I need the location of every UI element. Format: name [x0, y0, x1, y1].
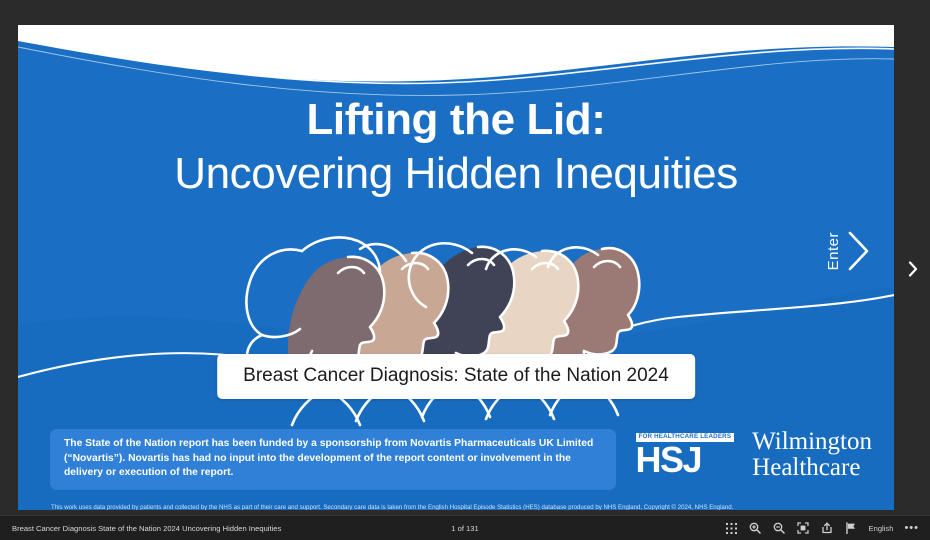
enter-button[interactable]: Enter [825, 230, 872, 272]
wilmington-healthcare-logo: Wilmington Healthcare [752, 429, 872, 481]
slide-subtitle: Breast Cancer Diagnosis: State of the Na… [217, 354, 695, 399]
enter-label: Enter [825, 232, 842, 270]
title-line-1: Lifting the Lid: [18, 98, 894, 142]
fit-to-screen-icon[interactable] [797, 522, 810, 535]
slide-stage: Lifting the Lid: Uncovering Hidden Inequ… [0, 0, 930, 515]
chevron-right-icon [846, 230, 872, 272]
slide-title-block: Lifting the Lid: Uncovering Hidden Inequ… [18, 98, 894, 196]
title-line-2: Uncovering Hidden Inequities [18, 152, 894, 196]
toolbar-actions: English ••• [725, 522, 919, 535]
logo-group: FOR HEALTHCARE LEADERS HSJ Wilmington He… [636, 429, 872, 481]
zoom-out-icon[interactable] [773, 522, 786, 535]
slide-canvas[interactable]: Lifting the Lid: Uncovering Hidden Inequ… [18, 25, 894, 510]
more-options-button[interactable]: ••• [904, 525, 919, 531]
funding-notice: The State of the Nation report has been … [50, 429, 616, 490]
next-page-button[interactable] [904, 258, 922, 280]
wilmington-line-2: Healthcare [752, 455, 872, 481]
wilmington-line-1: Wilmington [752, 429, 872, 455]
document-title: Breast Cancer Diagnosis State of the Nat… [12, 524, 281, 533]
fine-print: This work uses data provided by patients… [51, 503, 863, 510]
presentation-viewer: Lifting the Lid: Uncovering Hidden Inequ… [0, 0, 930, 540]
flag-icon[interactable] [845, 522, 858, 535]
fine-print-line-1: This work uses data provided by patients… [51, 503, 863, 510]
share-icon[interactable] [821, 522, 834, 535]
hsj-wordmark: HSJ [636, 443, 702, 477]
chevron-right-icon [908, 261, 918, 277]
language-selector[interactable]: English [869, 524, 894, 533]
hsj-logo: FOR HEALTHCARE LEADERS HSJ [636, 433, 735, 477]
thumbnails-grid-icon[interactable] [725, 522, 738, 535]
viewer-toolbar: Breast Cancer Diagnosis State of the Nat… [0, 515, 930, 540]
zoom-in-icon[interactable] [749, 522, 762, 535]
